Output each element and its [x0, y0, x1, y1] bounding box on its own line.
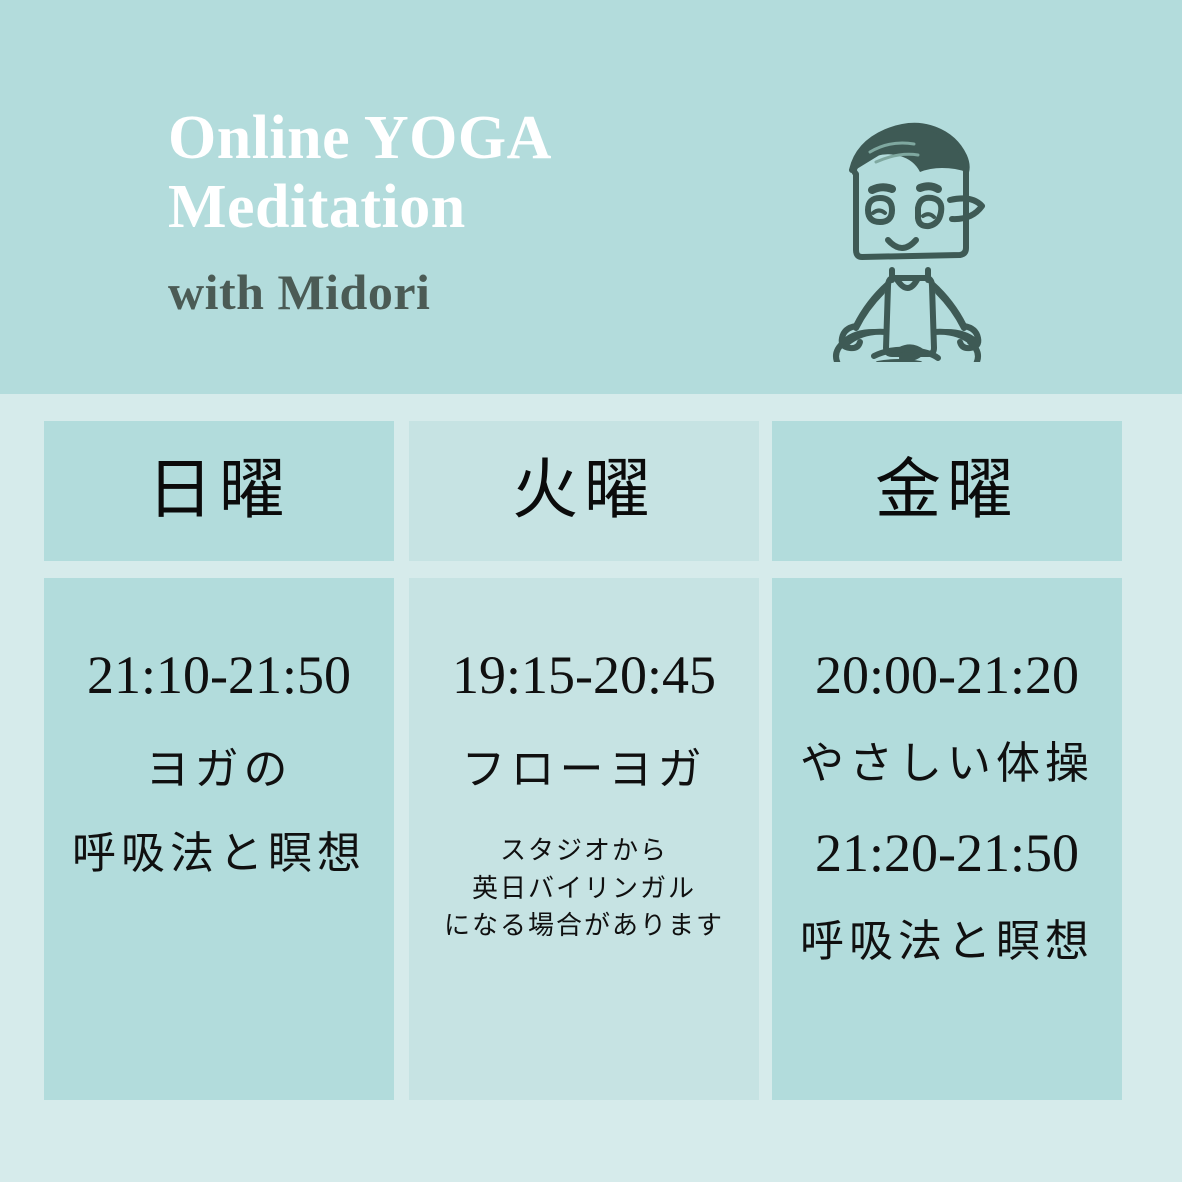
class-name-line-1: フローヨガ [462, 748, 707, 792]
day-body-tuesday[interactable]: 19:15-20:45 フローヨガ スタジオから 英日バイリンガル になる場合が… [409, 578, 759, 1100]
schedule-column-sunday: 日曜 21:10-21:50 ヨガの 呼吸法と瞑想 [44, 394, 394, 1100]
title-block: Online YOGA Meditation with Midori [168, 104, 768, 320]
day-header-tuesday[interactable]: 火曜 [409, 421, 759, 561]
class-note-line-1: スタジオから [500, 832, 668, 870]
schedule-column-friday: 金曜 20:00-21:20 やさしい体操 21:20-21:50 呼吸法と瞑想 [772, 394, 1122, 1100]
page-subtitle: with Midori [168, 265, 768, 320]
class-note-line-3: になる場合があります [444, 907, 724, 945]
schedule-column-tuesday: 火曜 19:15-20:45 フローヨガ スタジオから 英日バイリンガル になる… [409, 394, 759, 1100]
class-time: 21:10-21:50 [87, 648, 351, 702]
class-name-line-1: ヨガの [146, 748, 293, 792]
day-header-label: 火曜 [512, 458, 656, 524]
day-header-friday[interactable]: 金曜 [772, 421, 1122, 561]
schedule-grid: 日曜 21:10-21:50 ヨガの 呼吸法と瞑想 火曜 19:15-20:45… [0, 394, 1182, 1182]
day-header-label: 日曜 [147, 458, 291, 524]
day-body-sunday[interactable]: 21:10-21:50 ヨガの 呼吸法と瞑想 [44, 578, 394, 1100]
class-name-2: 呼吸法と瞑想 [800, 920, 1094, 964]
page-title-line-1: Online YOGA [168, 104, 768, 173]
day-header-label: 金曜 [875, 458, 1019, 524]
class-time: 19:15-20:45 [452, 648, 716, 702]
day-header-sunday[interactable]: 日曜 [44, 421, 394, 561]
class-time-1: 20:00-21:20 [815, 648, 1079, 702]
day-body-friday[interactable]: 20:00-21:20 やさしい体操 21:20-21:50 呼吸法と瞑想 [772, 578, 1122, 1100]
seated-meditating-person-icon [800, 112, 1020, 362]
class-time-2: 21:20-21:50 [815, 826, 1079, 880]
page-title-line-2: Meditation [168, 173, 768, 242]
class-name-1: やさしい体操 [800, 742, 1094, 786]
class-name-line-2: 呼吸法と瞑想 [72, 832, 366, 876]
class-note-line-2: 英日バイリンガル [472, 870, 696, 908]
header-band: Online YOGA Meditation with Midori [0, 0, 1182, 394]
